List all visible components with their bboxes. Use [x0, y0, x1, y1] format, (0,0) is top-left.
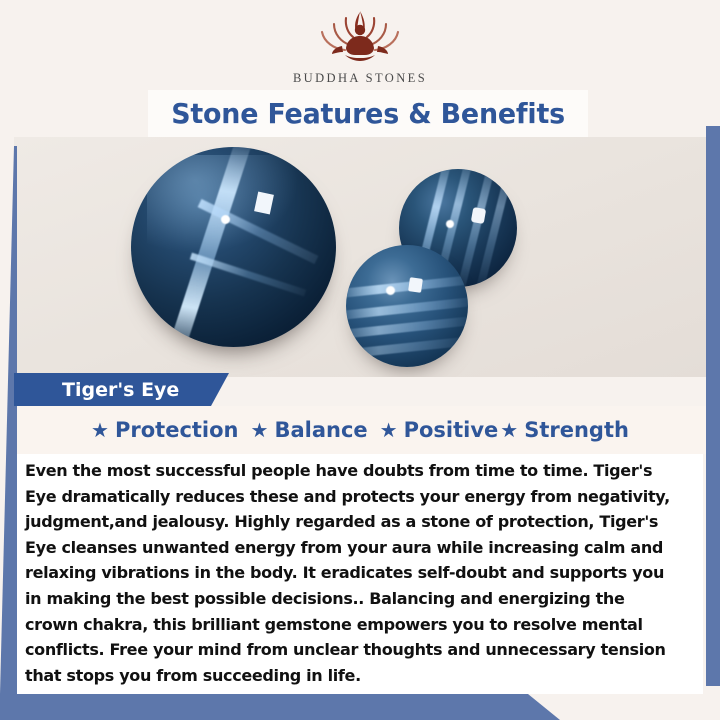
- small-sphere-band-4: [346, 335, 468, 359]
- small-sphere-band-1: [346, 274, 468, 298]
- decor-left-bar: [0, 146, 17, 694]
- stone-features-infographic: BUDDHA STONES Stone Features & Benefits: [0, 0, 720, 720]
- page-title: Stone Features & Benefits: [171, 97, 565, 130]
- brand-wordmark: BUDDHA STONES: [293, 71, 427, 86]
- photo-backdrop: [14, 137, 706, 377]
- brand-logo: BUDDHA STONES: [293, 6, 427, 86]
- stone-name: Tiger's Eye: [14, 379, 179, 401]
- small-sphere-reflection: [409, 277, 424, 293]
- small-sphere: [346, 245, 468, 367]
- star-icon: ★: [380, 418, 398, 442]
- medium-sphere-highlight: [446, 220, 454, 228]
- star-icon: ★: [500, 418, 518, 442]
- benefit-label: Protection: [115, 418, 239, 442]
- stone-name-banner: Tiger's Eye: [14, 373, 229, 406]
- product-photo: [14, 137, 706, 377]
- benefit-balance: ★ Balance: [251, 418, 368, 442]
- description-text: Even the most successful people have dou…: [25, 458, 679, 688]
- benefits-list: ★ Protection ★ Balance ★ Positive ★ Stre…: [14, 406, 706, 454]
- benefit-positive: ★ Positive: [380, 418, 499, 442]
- benefit-protection: ★ Protection: [91, 418, 238, 442]
- decor-right-bar: [706, 126, 720, 686]
- small-sphere-highlight: [386, 286, 395, 295]
- lotus-meditation-icon: [312, 6, 408, 69]
- benefit-label: Strength: [524, 418, 629, 442]
- decor-bottom-bar: [0, 694, 560, 720]
- brand-header: BUDDHA STONES: [0, 0, 720, 92]
- medium-sphere-reflection: [471, 207, 486, 224]
- star-icon: ★: [251, 418, 269, 442]
- benefit-label: Positive: [404, 418, 499, 442]
- small-sphere-band-3: [346, 316, 468, 340]
- title-banner: Stone Features & Benefits: [148, 90, 588, 137]
- benefit-strength: ★ Strength: [500, 418, 629, 442]
- large-sphere: [131, 147, 336, 347]
- small-sphere-band-2: [346, 296, 468, 320]
- star-icon: ★: [91, 418, 109, 442]
- description-panel: Even the most successful people have dou…: [17, 454, 703, 694]
- benefit-label: Balance: [274, 418, 367, 442]
